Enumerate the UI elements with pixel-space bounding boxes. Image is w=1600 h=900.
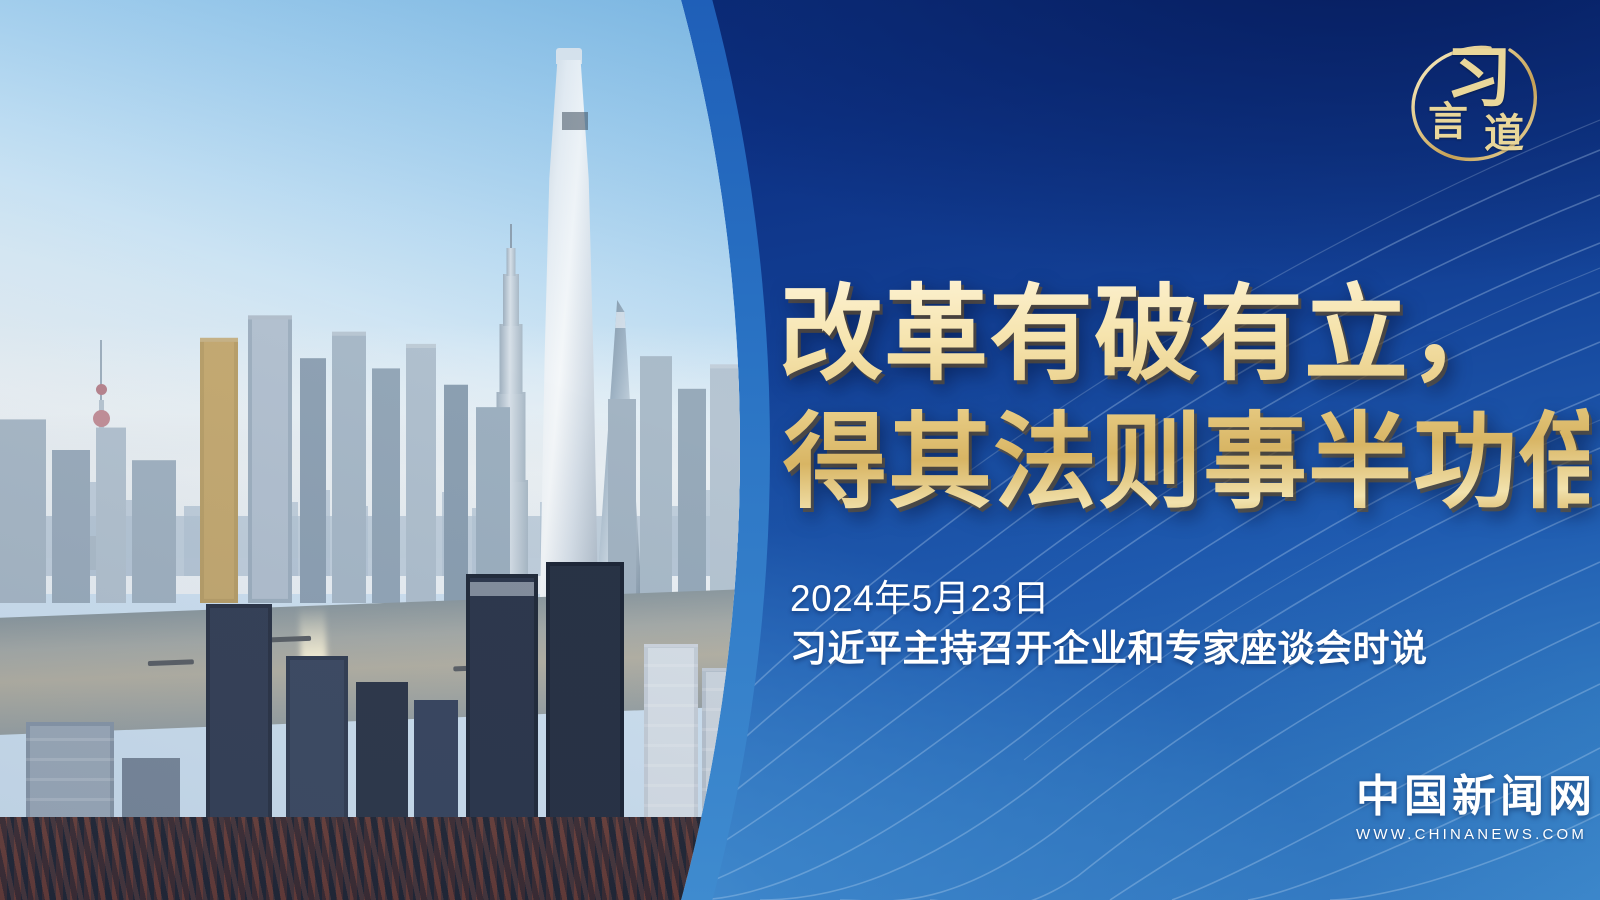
headline-line-2: 得其法则事半功倍 bbox=[783, 400, 1589, 528]
photo-color-grade bbox=[0, 0, 770, 900]
brand-url: WWW.CHINANEWS.COM bbox=[1356, 826, 1572, 843]
photo-canvas bbox=[0, 0, 770, 900]
quote-date: 2024年5月23日 bbox=[790, 568, 1050, 622]
page-title: 改革有破有立， 得其法则事半功倍 bbox=[779, 272, 1589, 528]
headline-line-1: 改革有破有立， bbox=[779, 272, 1589, 400]
xi-yan-dao-seal-logo: 习 言 道 bbox=[1398, 28, 1548, 178]
poster-root: 改革有破有立， 得其法则事半功倍 2024年5月23日 习近平主持召开企业和专家… bbox=[0, 0, 1600, 900]
photo-shanghai-skyline bbox=[0, 0, 770, 900]
seal-char-yan: 言 bbox=[1428, 102, 1468, 142]
quote-attribution: 习近平主持召开企业和专家座谈会时说 bbox=[790, 618, 1428, 672]
seal-char-dao: 道 bbox=[1484, 114, 1524, 154]
chinanews-brand: 中国新闻网 WWW.CHINANEWS.COM bbox=[1356, 772, 1572, 843]
brand-name: 中国新闻网 bbox=[1356, 772, 1572, 822]
